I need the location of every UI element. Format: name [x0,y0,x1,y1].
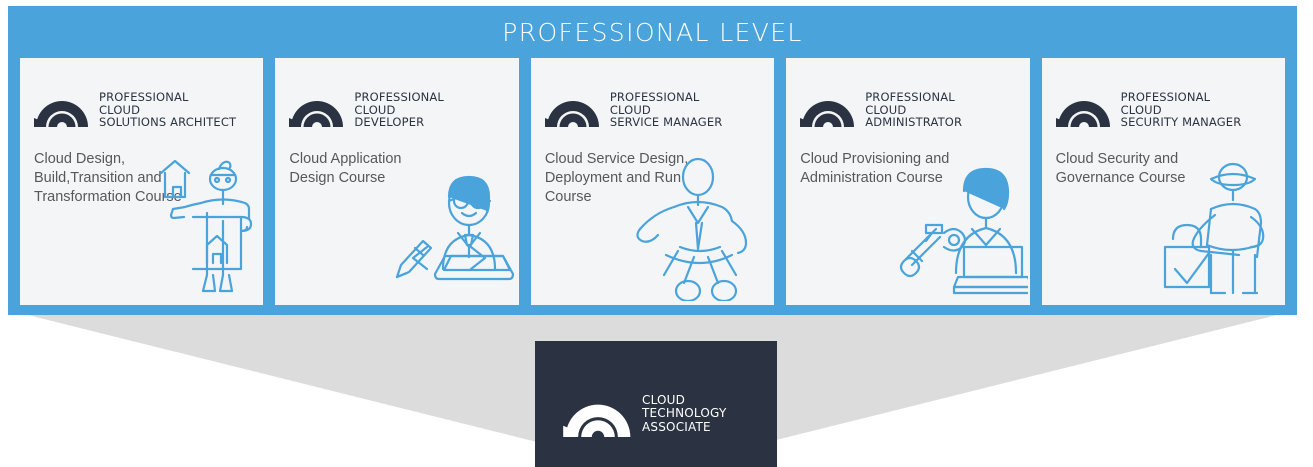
cert-logo-lockup: PROFESSIONAL CLOUD SERVICE MANAGER [545,90,723,129]
cert-card-cloud-administrator[interactable]: PROFESSIONAL CLOUD ADMINISTRATOR Cloud P… [786,58,1029,305]
cert-logo-words: PROFESSIONAL CLOUD DEVELOPER [354,90,444,129]
certification-card-row: PROFESSIONAL CLOUD SOLUTIONS ARCHITECT C… [20,58,1285,305]
cert-logo-lockup: PROFESSIONAL CLOUD DEVELOPER [289,90,444,129]
cta-rainbow-arch-logo-white-icon [563,391,633,437]
cert-card-cloud-service-manager[interactable]: PROFESSIONAL CLOUD SERVICE MANAGER Cloud… [531,58,774,305]
cta-rainbow-arch-logo-icon [800,90,856,127]
cert-card-cloud-developer[interactable]: PROFESSIONAL CLOUD DEVELOPER Cloud Appli… [275,58,518,305]
cert-logo-words: PROFESSIONAL CLOUD SECURITY MANAGER [1121,90,1242,129]
logo-line-1: PROFESSIONAL [99,91,236,104]
cert-logo-lockup: PROFESSIONAL CLOUD SOLUTIONS ARCHITECT [34,90,236,129]
associate-line-3: ASSOCIATE [642,421,726,434]
logo-line-3: SOLUTIONS ARCHITECT [99,116,236,129]
logo-line-3: DEVELOPER [354,116,444,129]
service-manager-juggling-icon [612,151,772,301]
cta-rainbow-arch-logo-icon [1056,90,1112,127]
cert-logo-lockup: PROFESSIONAL CLOUD ADMINISTRATOR [800,90,962,129]
developer-at-laptop-with-code-and-pencil-icon [357,151,517,301]
cert-logo-words: PROFESSIONAL CLOUD SERVICE MANAGER [610,90,723,129]
logo-line-3: SERVICE MANAGER [610,116,723,129]
cert-card-cloud-solutions-architect[interactable]: PROFESSIONAL CLOUD SOLUTIONS ARCHITECT C… [20,58,263,305]
cert-card-cloud-security-manager[interactable]: PROFESSIONAL CLOUD SECURITY MANAGER Clou… [1042,58,1285,305]
logo-line-1: PROFESSIONAL [354,91,444,104]
professional-level-band: PROFESSIONAL LEVEL PROFESSIONAL CLOUD SO… [8,6,1297,315]
associate-line-2: TECHNOLOGY [642,407,726,420]
cert-logo-words: PROFESSIONAL CLOUD SOLUTIONS ARCHITECT [99,90,236,129]
cta-rainbow-arch-logo-icon [289,90,345,127]
associate-line-1: CLOUD [642,394,726,407]
logo-line-3: ADMINISTRATOR [865,116,962,129]
associate-logo-words: CLOUD TECHNOLOGY ASSOCIATE [642,391,726,434]
level-title: PROFESSIONAL LEVEL [8,18,1297,48]
cloud-technology-associate-box[interactable]: CLOUD TECHNOLOGY ASSOCIATE [535,341,777,467]
cta-rainbow-arch-logo-icon [34,90,90,127]
logo-line-1: PROFESSIONAL [1121,91,1242,104]
associate-logo-lockup: CLOUD TECHNOLOGY ASSOCIATE [563,391,726,437]
logo-line-3: SECURITY MANAGER [1121,116,1242,129]
logo-line-1: PROFESSIONAL [610,91,723,104]
cert-logo-words: PROFESSIONAL CLOUD ADMINISTRATOR [865,90,962,129]
security-manager-with-padlock-check-icon [1123,151,1283,301]
administrator-at-monitor-with-tools-icon [868,151,1028,301]
architect-with-blueprint-icon [131,151,261,301]
logo-line-1: PROFESSIONAL [865,91,962,104]
cert-logo-lockup: PROFESSIONAL CLOUD SECURITY MANAGER [1056,90,1242,129]
cta-rainbow-arch-logo-icon [545,90,601,127]
